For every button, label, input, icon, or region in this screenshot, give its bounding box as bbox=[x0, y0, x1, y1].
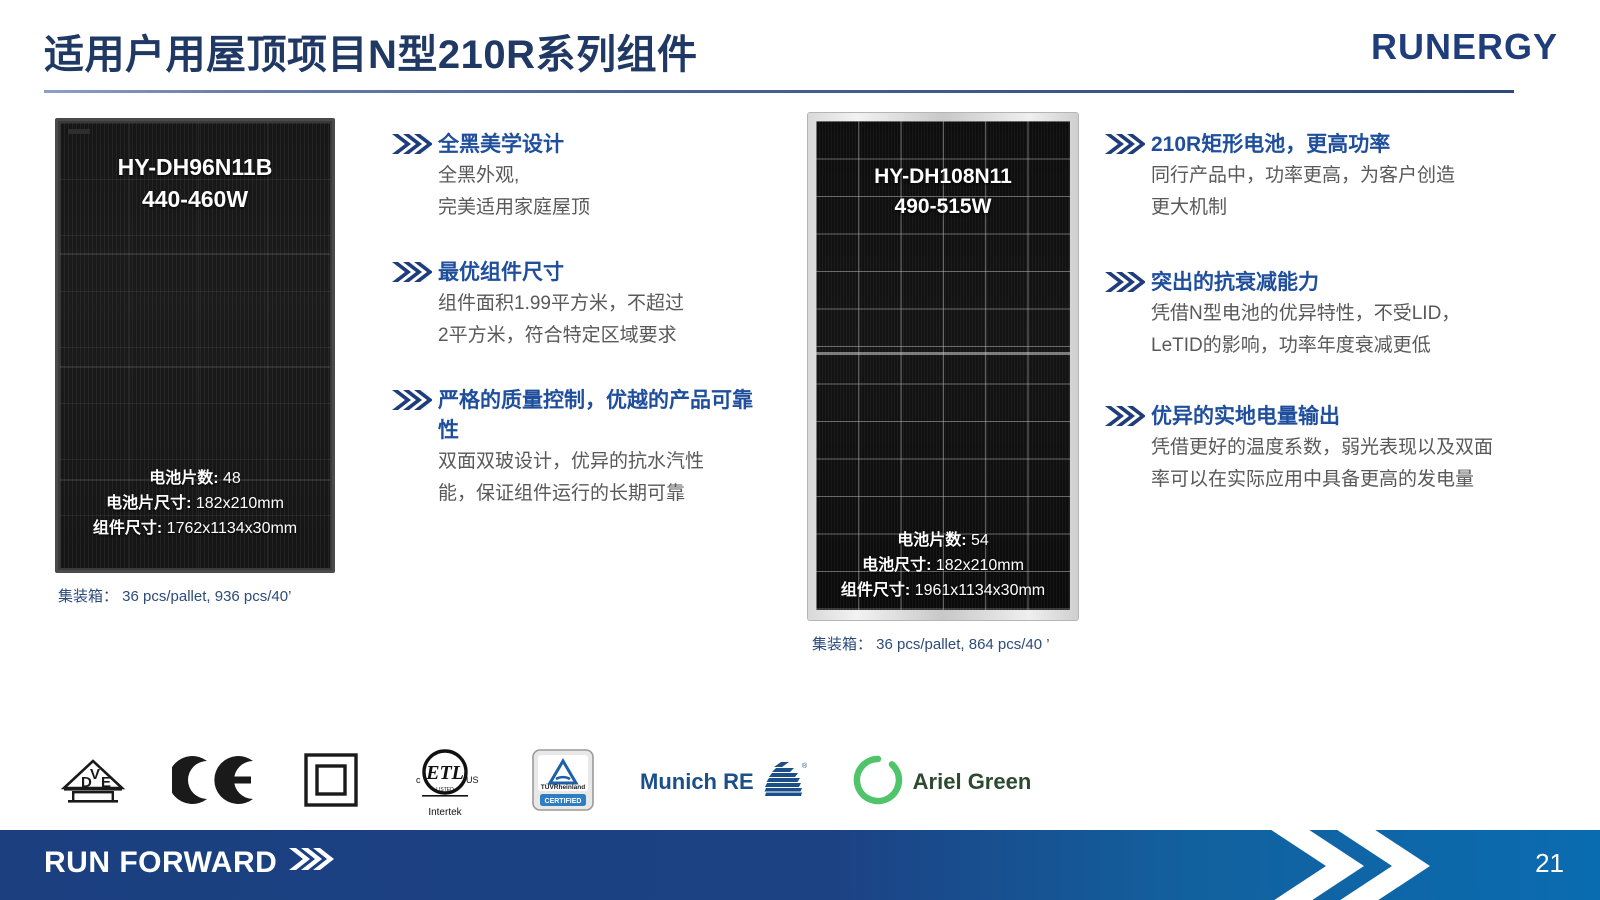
double-chevron-right-icon bbox=[1105, 268, 1151, 298]
feature-title: 突出的抗衰减能力 bbox=[1151, 268, 1319, 298]
certification-logo-strip: D V E ETL c bbox=[60, 742, 1031, 822]
spec-value: 48 bbox=[223, 470, 241, 487]
ariel-green-logo-icon bbox=[853, 755, 903, 810]
feature-body: 凭借更好的温度系数，弱光表现以及双面率可以在实际应用中具备更高的发电量 bbox=[1151, 432, 1496, 496]
module-model-name: HY-DH108N11 bbox=[808, 165, 1078, 189]
feature-item: 210R矩形电池，更高功率 同行产品中，功率更高，为客户创造更大机制 bbox=[1105, 130, 1505, 224]
svg-text:US: US bbox=[466, 775, 479, 785]
ariel-green-wordmark: Ariel Green bbox=[913, 769, 1032, 795]
footer-slogan-text: RUN FORWARD bbox=[44, 846, 277, 880]
double-chevron-right-icon bbox=[392, 130, 438, 160]
runergy-brand-logo: RUNERGY bbox=[1371, 26, 1558, 68]
svg-text:®: ® bbox=[802, 762, 807, 770]
slide-footer: RUN FORWARD 21 bbox=[0, 830, 1600, 900]
spec-value: 1961x1134x30mm bbox=[915, 582, 1045, 599]
spec-label: 电池片尺寸: bbox=[106, 495, 191, 512]
spec-label: 电池片数: bbox=[897, 532, 966, 549]
cert-tuv-rheinland: TÜVRheinland CERTIFIED bbox=[532, 749, 594, 816]
feature-list-right: 210R矩形电池，更高功率 同行产品中，功率更高，为客户创造更大机制 突出的抗衰… bbox=[1105, 130, 1505, 522]
footer-slogan-group: RUN FORWARD bbox=[44, 846, 335, 880]
spec-row: 电池片数: 54 bbox=[808, 528, 1078, 553]
feature-item: 最优组件尺寸 组件面积1.99平方米，不超过 2平方米，符合特定区域要求 bbox=[392, 258, 772, 352]
cert-vde: D V E bbox=[60, 754, 126, 811]
ce-mark-icon bbox=[172, 755, 258, 810]
spec-value: 54 bbox=[971, 532, 989, 549]
module-spec-list: 电池片数: 48 电池片尺寸: 182x210mm 组件尺寸: 1762x113… bbox=[55, 466, 335, 541]
header-divider bbox=[44, 90, 1514, 93]
cert-class-two bbox=[304, 753, 358, 812]
spec-label: 电池片数: bbox=[149, 470, 218, 487]
slide-header: 适用户用屋顶项目N型210R系列组件 RUNERGY bbox=[0, 0, 1600, 98]
spec-value: 182x210mm bbox=[936, 557, 1024, 574]
spec-label: 组件尺寸: bbox=[841, 582, 910, 599]
etl-intertek-logo-icon: ETL c US LISTED bbox=[404, 746, 486, 807]
footer-chevron-decoration bbox=[1230, 830, 1450, 900]
spec-row: 电池尺寸: 182x210mm bbox=[808, 553, 1078, 578]
feature-title: 严格的质量控制，优越的产品可靠性 bbox=[438, 386, 756, 446]
munich-re-wordmark: Munich RE bbox=[640, 769, 754, 795]
feature-title: 全黑美学设计 bbox=[438, 130, 564, 160]
munich-re-logo-icon: ® bbox=[761, 758, 807, 807]
double-chevron-right-icon bbox=[1105, 402, 1151, 432]
class-ii-square-icon bbox=[304, 753, 358, 812]
module-busbar bbox=[60, 366, 330, 368]
intertek-label: Intertek bbox=[428, 807, 461, 818]
page-title: 适用户用屋顶项目N型210R系列组件 bbox=[44, 22, 698, 80]
module-busbar bbox=[60, 253, 330, 255]
spec-row: 电池片尺寸: 182x210mm bbox=[55, 491, 335, 516]
svg-text:E: E bbox=[101, 774, 111, 791]
svg-text:ETL: ETL bbox=[425, 762, 464, 784]
feature-item: 优异的实地电量输出 凭借更好的温度系数，弱光表现以及双面率可以在实际应用中具备更… bbox=[1105, 402, 1505, 496]
double-chevron-right-icon bbox=[1105, 130, 1151, 160]
cert-intertek: ETL c US LISTED Intertek bbox=[404, 746, 486, 818]
cert-ce bbox=[172, 755, 258, 810]
cert-munich-re: Munich RE ® bbox=[640, 758, 807, 807]
spec-row: 电池片数: 48 bbox=[55, 466, 335, 491]
feature-list-left: 全黑美学设计 全黑外观, 完美适用家庭屋顶 最优组件尺寸 组件面积1.99平方米… bbox=[392, 130, 772, 536]
svg-text:TÜVRheinland: TÜVRheinland bbox=[541, 782, 585, 791]
svg-text:V: V bbox=[90, 766, 100, 783]
feature-body: 全黑外观, 完美适用家庭屋顶 bbox=[438, 160, 772, 224]
spec-row: 组件尺寸: 1961x1134x30mm bbox=[808, 578, 1078, 603]
cert-ariel-green: Ariel Green bbox=[853, 755, 1032, 810]
tuv-rheinland-logo-icon: TÜVRheinland CERTIFIED bbox=[532, 749, 594, 816]
svg-text:c: c bbox=[416, 775, 421, 785]
feature-body: 同行产品中，功率更高，为客户创造更大机制 bbox=[1151, 160, 1471, 224]
slide-page-number: 21 bbox=[1535, 848, 1564, 879]
spec-value: 182x210mm bbox=[196, 495, 284, 512]
spec-row: 组件尺寸: 1762x1134x30mm bbox=[55, 516, 335, 541]
module-model-name: HY-DH96N11B bbox=[55, 154, 335, 181]
solar-module-image-left: HY-DH96N11B 440-460W 电池片数: 48 电池片尺寸: 182… bbox=[55, 118, 335, 573]
feature-title: 优异的实地电量输出 bbox=[1151, 402, 1340, 432]
spec-value: 1762x1134x30mm bbox=[167, 520, 297, 537]
feature-body: 双面双玻设计，优异的抗水汽性能，保证组件运行的长期可靠 bbox=[438, 446, 730, 510]
vde-logo-icon: D V E bbox=[60, 754, 126, 811]
module-packaging-caption: 集装箱： 36 pcs/pallet, 936 pcs/40’ bbox=[58, 585, 291, 606]
feature-body: 组件面积1.99平方米，不超过 2平方米，符合特定区域要求 bbox=[438, 288, 772, 352]
module-busbar bbox=[816, 352, 1070, 355]
module-power-range: 490-515W bbox=[808, 195, 1078, 219]
feature-title: 210R矩形电池，更高功率 bbox=[1151, 130, 1390, 160]
module-spec-list: 电池片数: 54 电池尺寸: 182x210mm 组件尺寸: 1961x1134… bbox=[808, 528, 1078, 603]
double-chevron-right-icon bbox=[289, 846, 335, 880]
feature-item: 严格的质量控制，优越的产品可靠性 双面双玻设计，优异的抗水汽性能，保证组件运行的… bbox=[392, 386, 772, 510]
svg-text:CERTIFIED: CERTIFIED bbox=[545, 798, 582, 805]
double-chevron-right-icon bbox=[392, 258, 438, 288]
solar-module-image-center: HY-DH108N11 490-515W 电池片数: 54 电池尺寸: 182x… bbox=[808, 113, 1078, 620]
module-packaging-caption: 集装箱： 36 pcs/pallet, 864 pcs/40 ’ bbox=[812, 633, 1050, 654]
module-power-range: 440-460W bbox=[55, 186, 335, 213]
svg-text:LISTED: LISTED bbox=[436, 787, 454, 793]
double-chevron-right-icon bbox=[392, 386, 438, 416]
feature-item: 突出的抗衰减能力 凭借N型电池的优异特性，不受LID，LeTID的影响，功率年度… bbox=[1105, 268, 1505, 362]
module-corner-label bbox=[68, 129, 90, 134]
spec-label: 组件尺寸: bbox=[93, 520, 162, 537]
feature-item: 全黑美学设计 全黑外观, 完美适用家庭屋顶 bbox=[392, 130, 772, 224]
feature-body: 凭借N型电池的优异特性，不受LID，LeTID的影响，功率年度衰减更低 bbox=[1151, 298, 1481, 362]
feature-title: 最优组件尺寸 bbox=[438, 258, 564, 288]
spec-label: 电池尺寸: bbox=[862, 557, 931, 574]
